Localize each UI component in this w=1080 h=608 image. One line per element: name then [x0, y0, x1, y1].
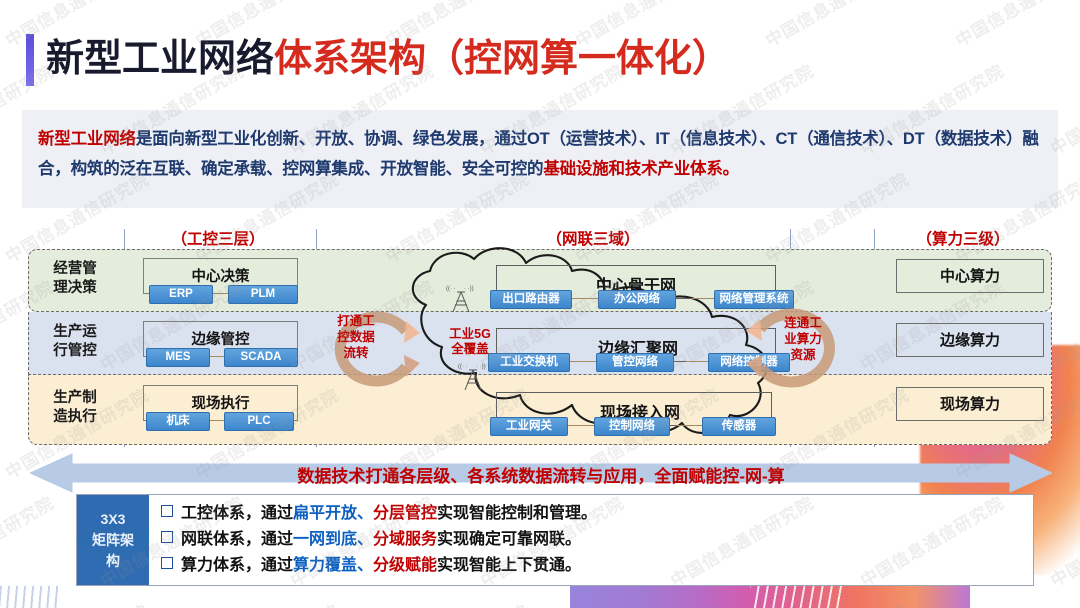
watermark-text: 中国信息通信研究院: [760, 0, 913, 52]
page-title-primary: 新型工业网络: [46, 38, 274, 80]
matrix-item-ot: 工控体系，通过扁平开放、分层管控实现智能控制和管理。: [161, 501, 1033, 527]
compute-box-field[interactable]: 现场算力: [896, 387, 1044, 421]
net-chip-industrial-switch[interactable]: 工业交换机: [488, 353, 570, 372]
rotate-label-left: 打通工 控数据 流转: [320, 313, 392, 361]
net-chip-control-network[interactable]: 管控网络: [596, 353, 674, 372]
compute-box-center[interactable]: 中心算力: [896, 259, 1044, 293]
matrix-item-compute: 算力体系，通过算力覆盖、分级赋能实现智能上下贯通。: [161, 553, 1033, 579]
watermark-text: 中国信息通信研究院: [950, 0, 1080, 52]
intro-body: 是面向新型工业化创新、开放、协调、绿色发展，通过OT（运营技术）、IT（信息技术…: [38, 130, 1039, 178]
watermark-text: 中国信息通信研究院: [0, 489, 58, 592]
checkbox-square-icon[interactable]: [161, 531, 173, 543]
chip-scada[interactable]: SCADA: [224, 348, 298, 367]
net-chip-link: [568, 298, 602, 299]
intro-highlight-start: 新型工业网络: [38, 130, 136, 148]
intro-paragraph: 新型工业网络是面向新型工业化创新、开放、协调、绿色发展，通过OT（运营技术）、I…: [22, 110, 1058, 208]
net-chip-office-network[interactable]: 办公网络: [598, 290, 676, 309]
net-group-access: 现场接入网 工业网关 控制网络 传感器: [480, 392, 800, 440]
page-title-secondary: 体系架构（控网算一体化）: [274, 38, 730, 80]
intro-highlight-end: 基础设施和技术产业体系。: [543, 160, 739, 178]
matrix-item-network: 网联体系，通过一网到底、分域服务实现确定可靠网联。: [161, 527, 1033, 553]
chip-plm[interactable]: PLM: [228, 285, 298, 304]
architecture-diagram: （工控三层） （网联三域） （算力三级） 经营管 理决策 生产运 行管控 生产制…: [28, 227, 1052, 449]
net-chip-sensor[interactable]: 传感器: [702, 417, 776, 436]
tower-5g-icon: ((· · · ·)): [444, 283, 478, 313]
slide-root: 新型工业网络体系架构（控网算一体化） 新型工业网络是面向新型工业化创新、开放、协…: [0, 0, 1080, 608]
checkbox-square-icon[interactable]: [161, 505, 173, 517]
watermark-text: 中国信息通信研究院: [190, 597, 343, 608]
net-chip-link: [676, 425, 704, 426]
rotate-label-right: 连通工 业算力 资源: [770, 315, 836, 363]
page-title: 新型工业网络体系架构（控网算一体化）: [46, 33, 730, 85]
row-label-operation: 生产运 行管控: [42, 323, 108, 361]
ot-box-title: 现场执行: [144, 392, 297, 413]
label-industrial-5g: 工业5G 全覆盖: [442, 327, 498, 357]
chip-plc[interactable]: PLC: [224, 412, 294, 431]
title-accent-bar: [26, 34, 34, 86]
net-chip-egress-router[interactable]: 出口路由器: [490, 290, 572, 309]
column-heading-control: （工控三层）: [123, 227, 313, 249]
svg-text:· ·)): · ·)): [464, 286, 474, 292]
matrix-list: 工控体系，通过扁平开放、分层管控实现智能控制和管理。 网联体系，通过一网到底、分…: [149, 495, 1033, 585]
chip-erp[interactable]: ERP: [149, 285, 213, 304]
column-heading-compute: （算力三级）: [868, 227, 1058, 249]
row-label-execution: 生产制 造执行: [42, 389, 108, 427]
decorative-stripes-bottom-left: [0, 586, 60, 608]
chip-mes[interactable]: MES: [146, 348, 210, 367]
matrix-label: 3X3 矩阵架 构: [77, 495, 149, 585]
matrix-panel: 3X3 矩阵架 构 工控体系，通过扁平开放、分层管控实现智能控制和管理。 网联体…: [76, 494, 1034, 586]
checkbox-square-icon[interactable]: [161, 557, 173, 569]
data-technology-banner: 数据技术打通各层级、各系统数据流转与应用，全面赋能控-网-算: [30, 452, 1052, 494]
net-chip-link: [564, 425, 596, 426]
row-label-management: 经营管 理决策: [42, 260, 108, 298]
chip-machine-tool[interactable]: 机床: [146, 412, 210, 431]
svg-text:((· ·: ((· ·: [458, 364, 468, 370]
net-chip-industrial-gateway[interactable]: 工业网关: [490, 417, 568, 436]
banner-text: 数据技术打通各层级、各系统数据流转与应用，全面赋能控-网-算: [30, 462, 1052, 487]
ot-box-title: 边缘管控: [144, 328, 297, 349]
watermark-text: 中国信息通信研究院: [380, 597, 533, 608]
net-chip-control-network[interactable]: 控制网络: [594, 417, 670, 436]
ot-box-title: 中心决策: [144, 265, 297, 286]
svg-text:((· ·: ((· ·: [446, 286, 456, 292]
compute-box-edge[interactable]: 边缘算力: [896, 323, 1044, 357]
